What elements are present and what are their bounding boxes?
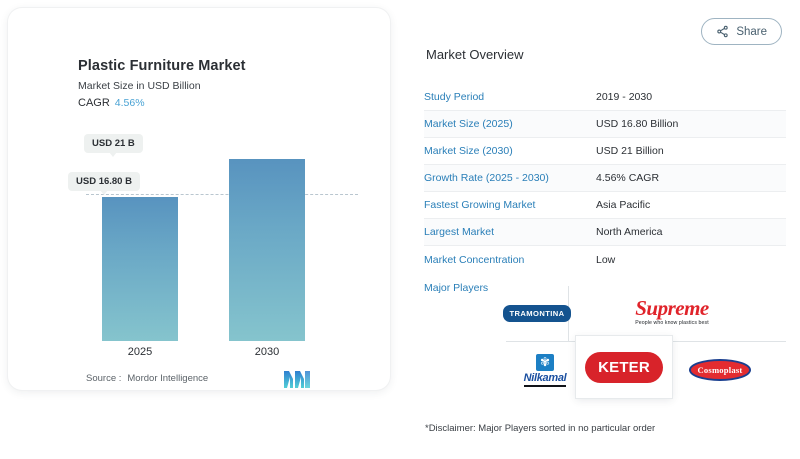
- row-value: Asia Pacific: [596, 199, 650, 211]
- row-label: Study Period: [424, 91, 596, 103]
- bar-value-label-2030: USD 21 B: [84, 134, 143, 153]
- major-players-label: Major Players: [424, 282, 488, 294]
- tramontina-logo: TRAMONTINA: [503, 305, 570, 322]
- share-button-label: Share: [736, 26, 767, 38]
- row-value: USD 21 Billion: [596, 145, 664, 157]
- mordor-intelligence-logo: [284, 370, 310, 388]
- market-overview-title: Market Overview: [426, 47, 524, 62]
- chart-title: Plastic Furniture Market: [78, 58, 246, 74]
- row-value: Low: [596, 254, 615, 266]
- cosmoplast-logo: Cosmoplast: [689, 359, 752, 381]
- source-prefix: Source :: [86, 373, 121, 384]
- table-row: Market Size (2030) USD 21 Billion: [424, 138, 786, 165]
- source-row: Source : Mordor Intelligence: [86, 373, 208, 384]
- logo-cell-cosmoplast: Cosmoplast: [682, 350, 758, 390]
- row-label: Market Concentration: [424, 254, 596, 266]
- keter-logo: KETER: [585, 352, 663, 383]
- logo-cell-tramontina: TRAMONTINA: [506, 296, 568, 330]
- logo-cell-keter: KETER: [576, 336, 672, 398]
- cagr-row: CAGR 4.56%: [78, 97, 145, 109]
- chart-card: Plastic Furniture Market Market Size in …: [8, 8, 390, 390]
- supreme-logo: Supreme People who know plastics best: [635, 298, 709, 326]
- table-row: Study Period 2019 - 2030: [424, 84, 786, 111]
- row-value: 2019 - 2030: [596, 91, 652, 103]
- table-row: Market Concentration Low: [424, 246, 786, 273]
- supreme-logo-tagline: People who know plastics best: [635, 320, 709, 326]
- share-icon: [716, 25, 729, 38]
- x-axis-tick-2025: 2025: [102, 346, 178, 358]
- row-value: USD 16.80 Billion: [596, 118, 678, 130]
- logo-cell-nilkamal: Nilkamal: [512, 348, 578, 392]
- cagr-label: CAGR: [78, 97, 110, 109]
- nilkamal-lotus-icon: [536, 354, 554, 371]
- market-overview-table: Study Period 2019 - 2030 Market Size (20…: [424, 84, 786, 273]
- bar-2025[interactable]: [102, 197, 178, 341]
- bar-group-2025[interactable]: [102, 197, 178, 341]
- bar-group-2030[interactable]: [229, 159, 305, 341]
- disclaimer-text: *Disclaimer: Major Players sorted in no …: [425, 423, 655, 434]
- bar-2030[interactable]: [229, 159, 305, 341]
- row-label: Growth Rate (2025 - 2030): [424, 172, 596, 184]
- row-label: Market Size (2025): [424, 118, 596, 130]
- x-axis-tick-2030: 2030: [229, 346, 305, 358]
- nilkamal-logo-name: Nilkamal: [524, 372, 567, 387]
- chart-subtitle: Market Size in USD Billion: [78, 80, 201, 92]
- row-label: Market Size (2030): [424, 145, 596, 157]
- source-name: Mordor Intelligence: [127, 373, 208, 384]
- bar-value-label-2025: USD 16.80 B: [68, 172, 140, 191]
- bar-chart-plot-area: USD 16.80 B USD 21 B: [78, 126, 368, 341]
- table-row: Market Size (2025) USD 16.80 Billion: [424, 111, 786, 138]
- share-button[interactable]: Share: [701, 18, 782, 45]
- table-row: Growth Rate (2025 - 2030) 4.56% CAGR: [424, 165, 786, 192]
- major-players-logo-grid: TRAMONTINA Supreme People who know plast…: [506, 286, 786, 398]
- table-row: Largest Market North America: [424, 219, 786, 246]
- market-summary-page: Plastic Furniture Market Market Size in …: [0, 0, 800, 459]
- row-value: North America: [596, 226, 663, 238]
- table-row: Fastest Growing Market Asia Pacific: [424, 192, 786, 219]
- row-value: 4.56% CAGR: [596, 172, 659, 184]
- row-label: Largest Market: [424, 226, 596, 238]
- reference-dashed-line: [86, 194, 358, 195]
- supreme-logo-name: Supreme: [635, 298, 709, 319]
- cagr-value: 4.56%: [115, 97, 145, 109]
- logo-cell-supreme: Supreme People who know plastics best: [616, 288, 728, 336]
- row-label: Fastest Growing Market: [424, 199, 596, 211]
